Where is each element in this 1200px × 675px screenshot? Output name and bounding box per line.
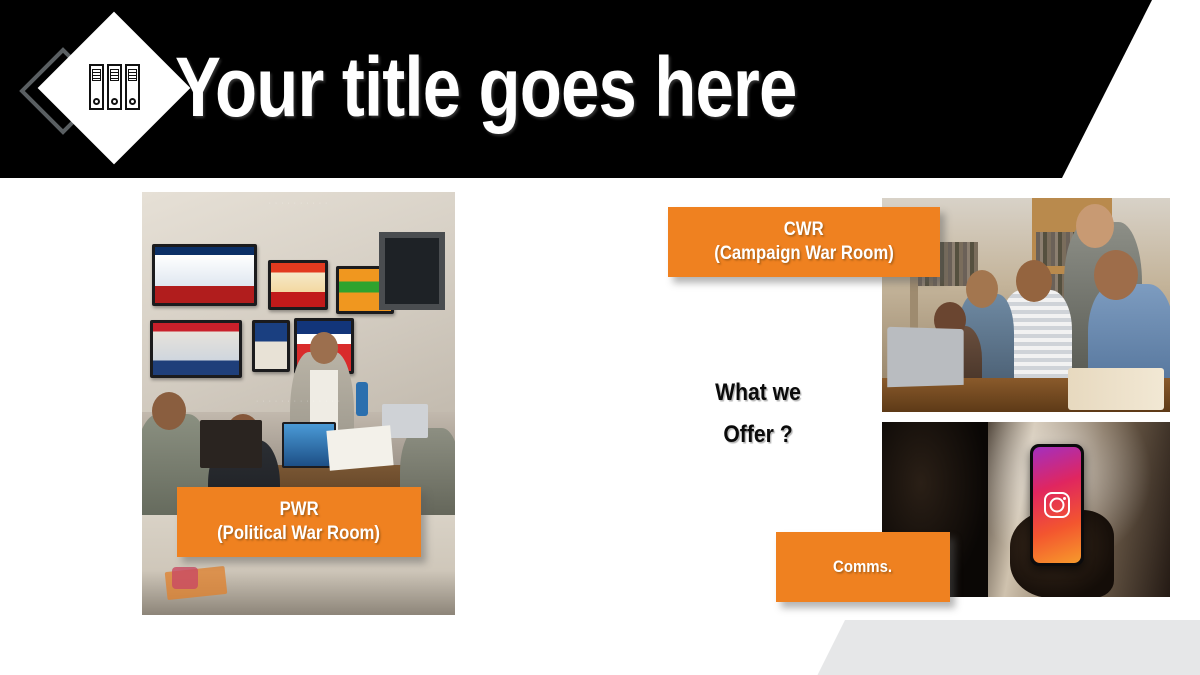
newspaper-pink [172, 567, 198, 589]
open-book [1068, 368, 1164, 410]
tv-screen-5 [252, 320, 290, 372]
label-comms-line1: Comms. [833, 556, 892, 578]
image-watermark-top: · · · · · · · · · · [142, 200, 455, 207]
label-cwr-line2: (Campaign War Room) [714, 242, 894, 266]
label-cwr-line1: CWR [784, 218, 824, 242]
binder-icon-1 [89, 64, 104, 110]
slide-title: Your title goes here [175, 36, 797, 138]
tv-screen-4 [150, 320, 242, 378]
papers-on-desk [326, 425, 393, 470]
image-watermark-mid: · · · · · · · · · · · · · · [142, 398, 455, 405]
student-woman-right-head [1094, 250, 1138, 300]
student-standing-man-head [1076, 204, 1114, 248]
instagram-icon [1044, 492, 1070, 518]
label-pwr[interactable]: PWR (Political War Room) [177, 487, 421, 557]
label-pwr-line1: PWR [279, 498, 318, 522]
center-question: What we Offer ? [690, 372, 826, 456]
bottom-right-chevron-decoration [815, 620, 1200, 675]
binders-icon [86, 62, 142, 110]
label-comms[interactable]: Comms. [776, 532, 950, 602]
tv-screen-2 [268, 260, 328, 310]
phone-screen [1033, 447, 1081, 563]
person-standing-head [310, 332, 338, 364]
tv-screen-1 [152, 244, 257, 306]
binder-icon-3 [125, 64, 140, 110]
smartphone [1030, 444, 1084, 566]
control-room-window [379, 232, 445, 310]
logo [28, 22, 174, 158]
binder-icon-2 [107, 64, 122, 110]
center-question-line2: Offer ? [698, 414, 818, 456]
student-center-man-head [1016, 260, 1052, 302]
student-woman-back-head [966, 270, 998, 308]
laptop-1 [200, 420, 262, 468]
laptop-library [887, 327, 963, 387]
center-question-line1: What we [698, 372, 818, 414]
label-pwr-line2: (Political War Room) [218, 522, 381, 546]
label-cwr[interactable]: CWR (Campaign War Room) [668, 207, 940, 277]
